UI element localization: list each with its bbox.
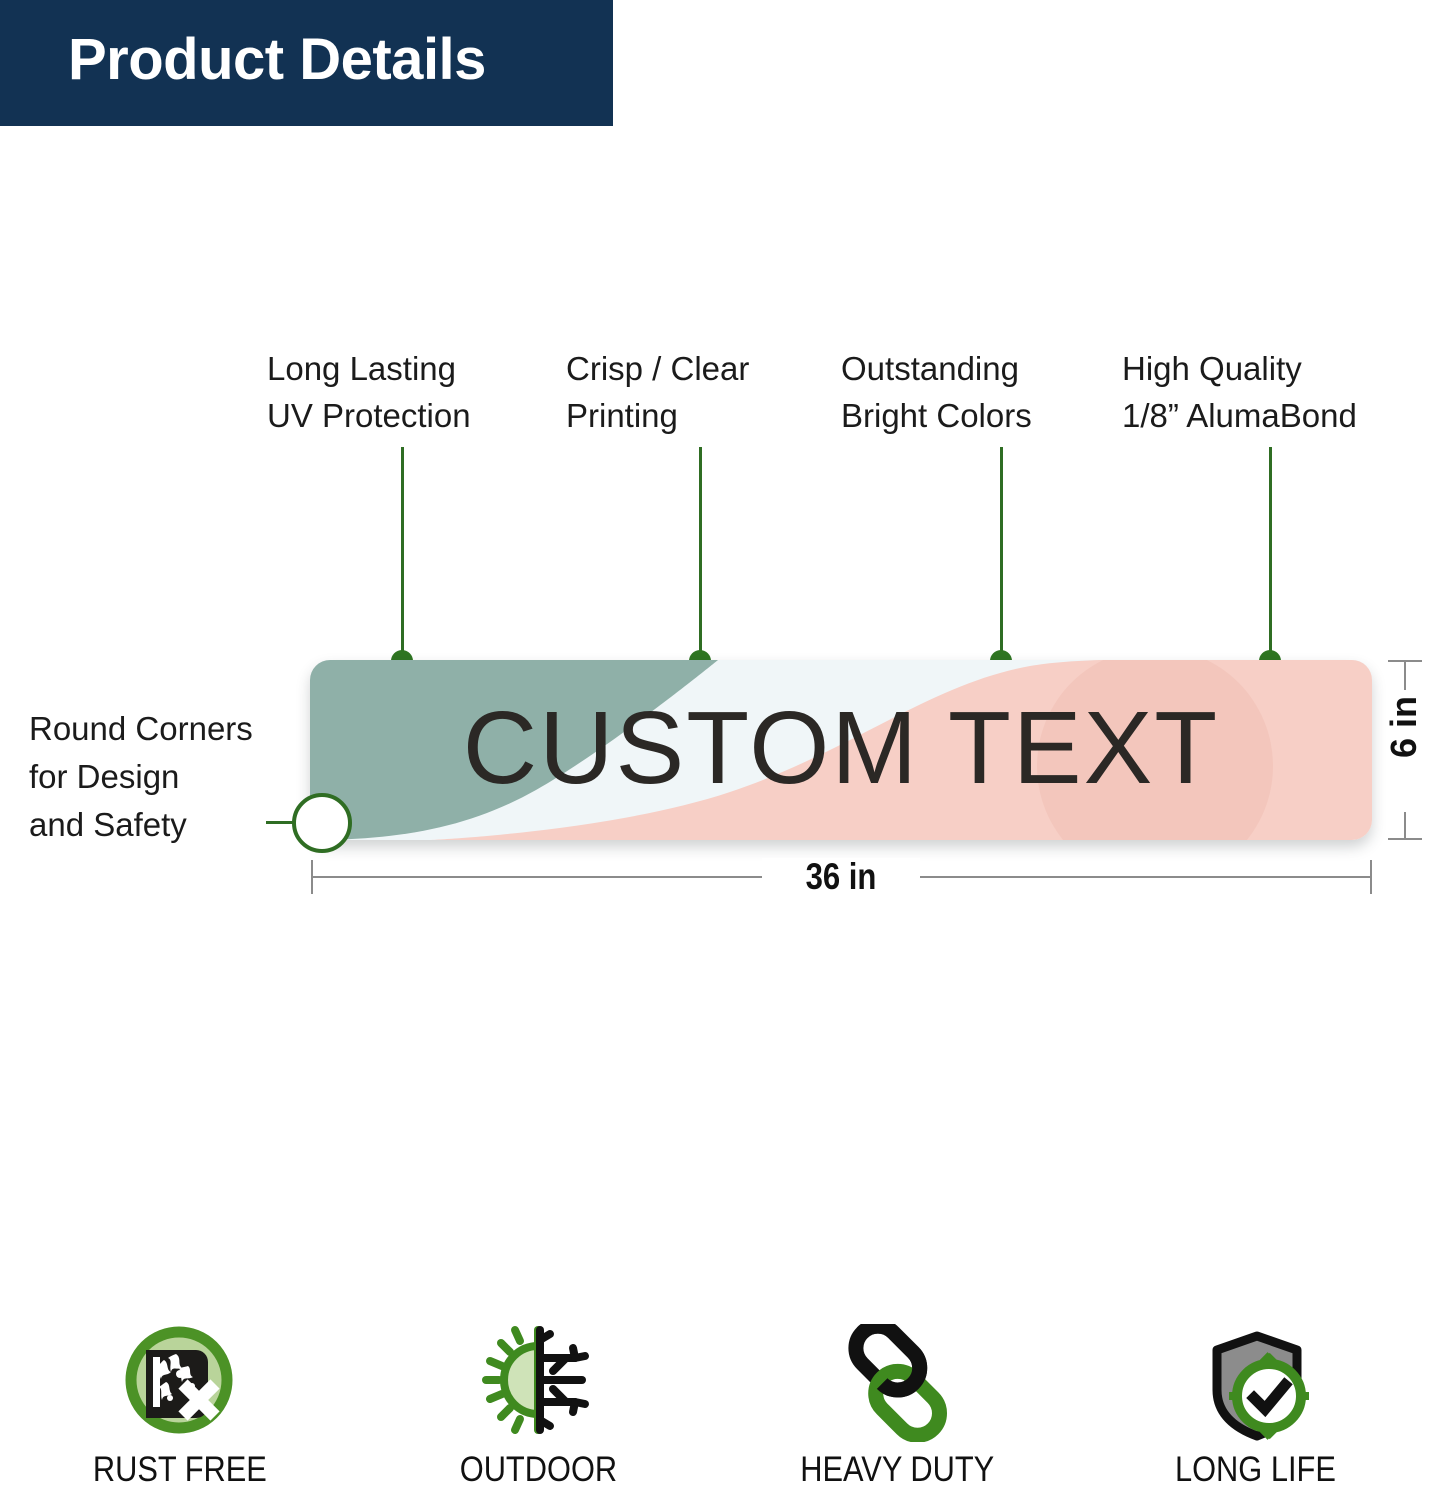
outdoor-sun-snowflake-icon	[473, 1322, 603, 1444]
feature-label-outdoor: OUTDOOR	[459, 1450, 616, 1490]
callout-line-2: 1/8” AlumaBond	[1122, 393, 1357, 440]
callout-label-bright-colors: Outstanding Bright Colors	[841, 346, 1032, 440]
feature-label-long-life: LONG LIFE	[1175, 1450, 1336, 1490]
callout-line-2: for Design	[29, 753, 253, 801]
sign-panel: CUSTOM TEXT	[310, 660, 1372, 840]
callout-leader-line-printing	[699, 447, 702, 661]
callout-leader-line-alumabond	[1269, 447, 1272, 661]
feature-outdoor: OUTDOOR	[359, 1322, 718, 1500]
header-banner: Product Details	[0, 0, 613, 126]
feature-heavy-duty: HEAVY DUTY	[718, 1322, 1077, 1500]
callout-label-uv-protection: Long Lasting UV Protection	[267, 346, 471, 440]
dimension-cap-bottom	[1388, 838, 1422, 840]
chain-link-icon	[832, 1322, 962, 1444]
callout-leader-line-uv-protection	[401, 447, 404, 661]
rust-free-icon	[114, 1322, 244, 1444]
feature-badges: RUST FREE	[0, 1322, 1435, 1500]
callout-leader-line-bright-colors	[1000, 447, 1003, 661]
sign-preview: CUSTOM TEXT	[310, 660, 1372, 840]
shield-clock-check-icon	[1191, 1322, 1321, 1444]
callout-line-1: Outstanding	[841, 346, 1032, 393]
feature-rust-free: RUST FREE	[0, 1322, 359, 1500]
callout-line-2: UV Protection	[267, 393, 471, 440]
dimension-label-height: 6 in	[1383, 698, 1425, 758]
callout-line-1: Long Lasting	[267, 346, 471, 393]
callout-line-1: High Quality	[1122, 346, 1357, 393]
feature-label-rust-free: RUST FREE	[92, 1450, 266, 1490]
callout-label-printing: Crisp / Clear Printing	[566, 346, 749, 440]
dimension-label-width: 36 in	[775, 856, 908, 898]
callout-label-round-corners: Round Corners for Design and Safety	[29, 705, 253, 850]
page-title: Product Details	[68, 26, 486, 93]
dimension-cap-right	[1370, 860, 1372, 894]
callout-line-3: and Safety	[29, 801, 253, 849]
feature-long-life: LONG LIFE	[1076, 1322, 1435, 1500]
callout-label-alumabond: High Quality 1/8” AlumaBond	[1122, 346, 1357, 440]
callout-line-2: Bright Colors	[841, 393, 1032, 440]
callout-line-1: Crisp / Clear	[566, 346, 749, 393]
feature-label-heavy-duty: HEAVY DUTY	[800, 1450, 994, 1490]
sign-custom-text: CUSTOM TEXT	[310, 660, 1372, 840]
dimension-cap-top	[1388, 660, 1422, 662]
callout-line-2: Printing	[566, 393, 749, 440]
product-details-infographic: Product Details Long Lasting UV Protecti…	[0, 0, 1435, 1500]
callout-line-1: Round Corners	[29, 705, 253, 753]
dimension-cap-left	[311, 860, 313, 894]
